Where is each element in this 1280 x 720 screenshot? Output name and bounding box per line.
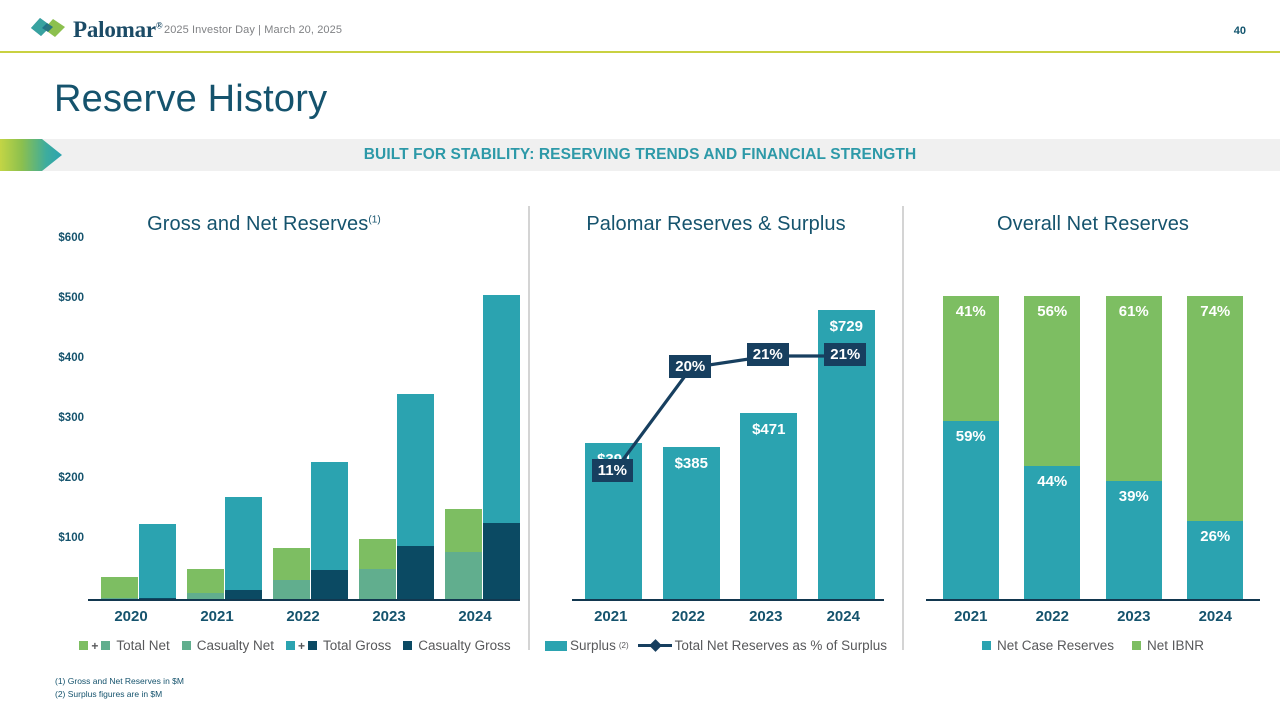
chart3-seg-net-case-2023: 39% xyxy=(1106,481,1162,600)
chart3-legend-label-net-ibnr: Net IBNR xyxy=(1147,638,1204,653)
chart1-bar-gross-2021 xyxy=(225,497,262,600)
chart1-legend: +Total NetCasualty Net+Total GrossCasual… xyxy=(60,638,530,653)
chart3-xlabel-2022: 2022 xyxy=(1012,608,1094,625)
chart3-bar-2022: 56%44% xyxy=(1024,296,1080,600)
chart2-pct-label-2022: 20% xyxy=(669,355,711,378)
chart3-seg-net-ibnr-2022: 56% xyxy=(1024,296,1080,466)
chart1-legend-item-total-net: +Total Net xyxy=(79,638,169,653)
chart3-legend-swatch-net-ibnr xyxy=(1132,641,1141,650)
chart1-seg-total-net-2022 xyxy=(273,548,310,580)
chart3-legend-item-net-case-reserves: Net Case Reserves xyxy=(982,638,1114,653)
chart2-legend: Surplus(2)Total Net Reserves as % of Sur… xyxy=(530,638,902,653)
chart1-group-2022 xyxy=(260,240,346,600)
chart1-xlabel-2023: 2023 xyxy=(346,608,432,625)
chart3-seg-net-case-2022: 44% xyxy=(1024,466,1080,600)
chart2-legend-label-surplus: Surplus xyxy=(570,638,616,653)
chart2-title: Palomar Reserves & Surplus xyxy=(530,200,902,236)
palomar-diamond-logo-icon xyxy=(30,16,68,42)
chart1-legend-swatch-total-net-1 xyxy=(101,641,110,650)
page-title: Reserve History xyxy=(54,78,327,121)
chart1-legend-label-casualty-net: Casualty Net xyxy=(197,638,274,653)
chart3-label-net-case-2024: 26% xyxy=(1200,528,1230,600)
chart1-ytick-$600: $600 xyxy=(58,232,84,244)
chart2-bar-label-2023: $471 xyxy=(740,421,797,438)
chart2-pct-label-2024: 21% xyxy=(824,343,866,366)
chart1-x-axis: 20202021202220232024 xyxy=(88,608,520,634)
chart3-legend-label-net-case-reserves: Net Case Reserves xyxy=(997,638,1114,653)
chart3-seg-net-ibnr-2021: 41% xyxy=(943,296,999,421)
logo-wordmark: Palomar® xyxy=(73,18,162,41)
chart3-bar-2021: 41%59% xyxy=(943,296,999,600)
chart1-bar-net-2024 xyxy=(445,509,482,600)
chart1-bar-net-2021 xyxy=(187,569,224,600)
chart1-bar-gross-2023 xyxy=(397,394,434,600)
chart1-legend-item-total-gross: +Total Gross xyxy=(286,638,391,653)
chart1-seg-total-gross-2024 xyxy=(483,295,520,523)
chart3-baseline xyxy=(926,599,1260,601)
chart2-bar-2023: $471 xyxy=(740,413,797,600)
chart3-seg-net-case-2021: 59% xyxy=(943,421,999,600)
slide-header: Palomar® 2025 Investor Day | March 20, 2… xyxy=(0,0,1280,52)
chart3-label-net-ibnr-2022: 56% xyxy=(1037,303,1067,466)
chart1-bar-net-2022 xyxy=(273,548,310,600)
chart1-xlabel-2020: 2020 xyxy=(88,608,174,625)
header-divider xyxy=(0,51,1280,53)
chart3-label-net-ibnr-2024: 74% xyxy=(1200,303,1230,521)
chart1-legend-swatch-casualty-net-0 xyxy=(182,641,191,650)
chart2-legend-item-surplus: Surplus(2) xyxy=(545,638,629,653)
chart2-x-axis: 2021202220232024 xyxy=(572,608,884,634)
chart2-plot-area: $394$385$471$729 xyxy=(575,282,885,600)
chart1-seg-casualty-gross-2024 xyxy=(483,523,520,600)
chart3-seg-net-case-2024: 26% xyxy=(1187,521,1243,600)
chart3-label-net-case-2022: 44% xyxy=(1037,473,1067,600)
chart1-seg-total-gross-2020 xyxy=(139,524,176,598)
logo-registered-mark: ® xyxy=(156,20,163,30)
chart1-y-axis: $100$200$300$400$500$600 xyxy=(22,240,84,600)
chart2-legend-item-pct-of-surplus: Total Net Reserves as % of Surplus xyxy=(638,638,887,653)
chart1-legend-item-casualty-gross: Casualty Gross xyxy=(403,638,510,653)
chart1-bar-gross-2024 xyxy=(483,295,520,600)
chart1-ytick-$300: $300 xyxy=(58,412,84,424)
chart3-xlabel-2024: 2024 xyxy=(1175,608,1257,625)
chart2-xlabel-2024: 2024 xyxy=(805,608,883,625)
chart2-baseline xyxy=(572,599,884,601)
chart1-ytick-$200: $200 xyxy=(58,472,84,484)
chart1-seg-total-gross-2021 xyxy=(225,497,262,590)
chart2-pct-label-2021: 11% xyxy=(592,459,633,482)
slide: Palomar® 2025 Investor Day | March 20, 2… xyxy=(0,0,1280,720)
chart1-group-2020 xyxy=(88,240,174,600)
chart3-seg-net-ibnr-2024: 74% xyxy=(1187,296,1243,521)
chart1-seg-casualty-gross-2022 xyxy=(311,570,348,600)
chart3-label-net-case-2023: 39% xyxy=(1119,488,1149,600)
logo-wordmark-text: Palomar xyxy=(73,17,156,42)
chart2-bar-2022: $385 xyxy=(663,447,720,600)
chart2-bar-label-2024: $729 xyxy=(818,318,875,335)
chart3-legend-item-net-ibnr: Net IBNR xyxy=(1132,638,1204,653)
chart1-bar-gross-2022 xyxy=(311,462,348,600)
chart1-seg-total-net-2023 xyxy=(359,539,396,569)
chart1-legend-label-total-gross: Total Gross xyxy=(323,638,391,653)
chart1-legend-label-total-net: Total Net xyxy=(116,638,169,653)
chart2-legend-footnote-ref: (2) xyxy=(619,641,629,650)
chart1-seg-casualty-net-2022 xyxy=(273,580,310,600)
chart1-legend-swatch-total-gross-0 xyxy=(286,641,295,650)
chart2-pct-label-2023: 21% xyxy=(747,343,789,366)
page-number: 40 xyxy=(1234,25,1246,37)
chart1-group-2021 xyxy=(174,240,260,600)
chart1-group-2023 xyxy=(346,240,432,600)
chart3-xlabel-2023: 2023 xyxy=(1093,608,1175,625)
chart1-xlabel-2021: 2021 xyxy=(174,608,260,625)
chart1-legend-swatch-total-gross-1 xyxy=(308,641,317,650)
chart3-plot-area: 41%59%56%44%61%39%74%26% xyxy=(930,296,1256,600)
chart1-legend-swatch-casualty-gross-0 xyxy=(403,641,412,650)
chart1-seg-casualty-net-2023 xyxy=(359,569,396,600)
chart1-legend-swatch-total-net-0 xyxy=(79,641,88,650)
chart3-bar-2023: 61%39% xyxy=(1106,296,1162,600)
chart1-title-text: Gross and Net Reserves xyxy=(147,213,368,235)
chart1-seg-casualty-net-2024 xyxy=(445,552,482,600)
chart1-ytick-$100: $100 xyxy=(58,532,84,544)
chart3-label-net-ibnr-2021: 41% xyxy=(956,303,986,421)
chart3-label-net-case-2021: 59% xyxy=(956,428,986,600)
chart1-xlabel-2024: 2024 xyxy=(432,608,518,625)
chart1-seg-casualty-gross-2023 xyxy=(397,546,434,600)
chart1-xlabel-2022: 2022 xyxy=(260,608,346,625)
chart2-legend-line-icon xyxy=(638,644,672,647)
chart3-label-net-ibnr-2023: 61% xyxy=(1119,303,1149,481)
chart1-title: Gross and Net Reserves(1) xyxy=(0,200,528,236)
logo-diamonds-icon xyxy=(30,16,68,42)
chart2-bar-label-2022: $385 xyxy=(663,455,720,472)
chart1-title-footnote-ref: (1) xyxy=(368,214,381,225)
chart2-xlabel-2023: 2023 xyxy=(727,608,805,625)
chart2-xlabel-2022: 2022 xyxy=(650,608,728,625)
chart1-seg-total-net-2020 xyxy=(101,577,138,598)
chart3-x-axis: 2021202220232024 xyxy=(926,608,1260,634)
chart3-xlabel-2021: 2021 xyxy=(930,608,1012,625)
panel-divider-2 xyxy=(902,206,904,650)
footnote-1: (1) Gross and Net Reserves in $M xyxy=(55,675,184,687)
chart3-legend-swatch-net-case-reserves xyxy=(982,641,991,650)
palomar-logo: Palomar® xyxy=(30,16,162,42)
chart1-seg-total-gross-2023 xyxy=(397,394,434,546)
chart2-xlabel-2021: 2021 xyxy=(572,608,650,625)
chart1-ytick-$400: $400 xyxy=(58,352,84,364)
chart1-bar-net-2023 xyxy=(359,539,396,600)
chart1-legend-plus-total-net: + xyxy=(91,639,98,653)
chart1-legend-plus-total-gross: + xyxy=(298,639,305,653)
chart1-baseline xyxy=(88,599,520,601)
chart1-seg-total-gross-2022 xyxy=(311,462,348,570)
chart2-legend-swatch-surplus xyxy=(545,641,567,651)
chart1-bar-gross-2020 xyxy=(139,524,176,600)
footnotes: (1) Gross and Net Reserves in $M(2) Surp… xyxy=(55,675,184,700)
chart1-legend-item-casualty-net: Casualty Net xyxy=(182,638,274,653)
chart3-title: Overall Net Reserves xyxy=(906,200,1280,236)
chart3-bar-2024: 74%26% xyxy=(1187,296,1243,600)
chart1-legend-label-casualty-gross: Casualty Gross xyxy=(418,638,510,653)
chart3-seg-net-ibnr-2023: 61% xyxy=(1106,296,1162,481)
chart3-legend: Net Case ReservesNet IBNR xyxy=(906,638,1280,653)
chart1-plot-area xyxy=(88,240,518,600)
chart1-seg-total-net-2021 xyxy=(187,569,224,593)
footnote-2: (2) Surplus figures are in $M xyxy=(55,688,184,700)
chart2-legend-label-pct-of-surplus: Total Net Reserves as % of Surplus xyxy=(675,638,887,653)
banner-headline: BUILT FOR STABILITY: RESERVING TRENDS AN… xyxy=(0,139,1280,171)
chart1-group-2024 xyxy=(432,240,518,600)
chart1-seg-total-net-2024 xyxy=(445,509,482,552)
header-subtitle: 2025 Investor Day | March 20, 2025 xyxy=(164,24,342,36)
chart1-bar-net-2020 xyxy=(101,577,138,600)
chart1-ytick-$500: $500 xyxy=(58,292,84,304)
